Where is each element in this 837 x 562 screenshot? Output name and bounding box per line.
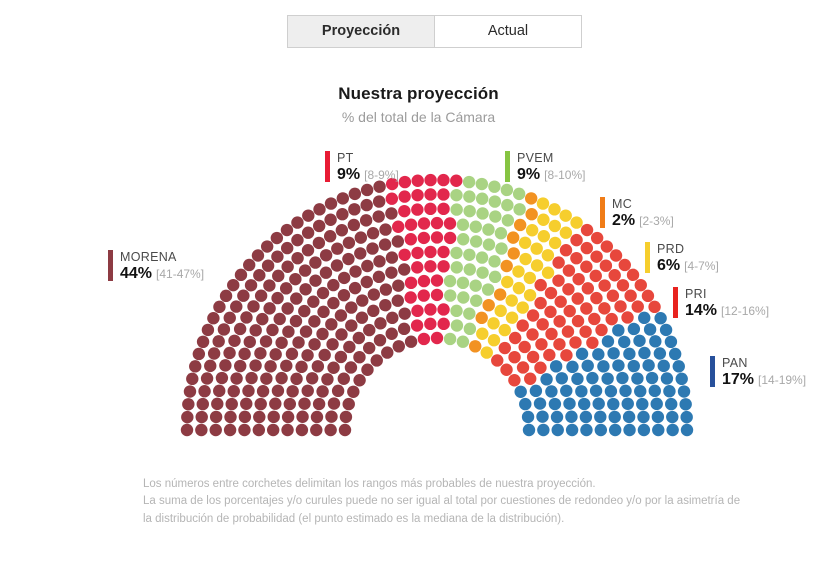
seat-dot: [450, 203, 462, 215]
chart-subtitle: % del total de la Cámara: [0, 109, 837, 125]
seat-dot: [418, 217, 430, 229]
seat-dot: [673, 360, 685, 372]
party-pct-mc: 2%: [612, 212, 635, 229]
seat-dot: [536, 410, 548, 422]
seat-dot: [476, 266, 488, 278]
seat-dot: [590, 270, 602, 282]
seat-dot: [481, 346, 493, 358]
seat-dot: [313, 220, 325, 232]
seat-dot: [431, 217, 443, 229]
seat-dot: [381, 346, 393, 358]
seat-dot: [238, 348, 250, 360]
seat-dot: [321, 373, 333, 385]
seat-dot: [525, 208, 537, 220]
seat-dot: [399, 307, 411, 319]
seat-dot: [623, 348, 635, 360]
seat-dot: [591, 232, 603, 244]
seat-dot: [571, 373, 583, 385]
seat-dot: [548, 203, 560, 215]
seat-dot: [531, 259, 543, 271]
seat-dot: [331, 259, 343, 271]
party-color-swatch-prd: [645, 242, 650, 273]
seat-dot: [475, 312, 487, 324]
party-callout-morena[interactable]: MORENA 44%[41-47%]: [108, 250, 204, 283]
seat-dot: [526, 328, 538, 340]
seat-dot: [469, 340, 481, 352]
seat-dot: [542, 249, 554, 261]
seat-dot: [489, 210, 501, 222]
seat-dot: [331, 242, 343, 254]
seat-dot: [545, 287, 557, 299]
seat-dot: [628, 323, 640, 335]
seat-dot: [316, 385, 328, 397]
seat-dot: [353, 374, 365, 386]
seat-dot: [514, 219, 526, 231]
seat-dot: [373, 271, 385, 283]
seat-dot: [320, 267, 332, 279]
seat-dot: [327, 279, 339, 291]
seat-dot: [256, 313, 268, 325]
seat-dot: [318, 349, 330, 361]
seat-dot: [517, 301, 529, 313]
seat-dot: [463, 176, 475, 188]
party-callout-pt[interactable]: PT 9%[8-9%]: [325, 151, 399, 184]
seat-dot: [313, 203, 325, 215]
seat-dot: [317, 306, 329, 318]
seat-dot: [560, 385, 572, 397]
seat-dot: [380, 283, 392, 295]
seat-dot: [592, 348, 604, 360]
seat-dot: [324, 424, 336, 436]
seat-dot: [263, 279, 275, 291]
seat-dot: [519, 398, 531, 410]
party-color-swatch-pvem: [505, 151, 510, 182]
seat-dot: [624, 290, 636, 302]
seat-dot: [320, 249, 332, 261]
seat-dot: [379, 238, 391, 250]
seat-dot: [360, 199, 372, 211]
seat-dot: [681, 424, 693, 436]
seat-dot: [202, 324, 214, 336]
seat-dot: [307, 296, 319, 308]
seat-dot: [552, 424, 564, 436]
seat-dot: [255, 290, 267, 302]
seat-dot: [450, 247, 462, 259]
seat-dot: [612, 324, 624, 336]
party-name-morena: MORENA: [120, 250, 204, 264]
chart-title: Nuestra proyección: [0, 84, 837, 104]
party-range-pvem: [8-10%]: [544, 168, 585, 182]
seat-dot: [508, 247, 520, 259]
seat-dot: [252, 249, 264, 261]
seat-dot: [243, 259, 255, 271]
seat-dot: [348, 219, 360, 231]
seat-dot: [469, 279, 481, 291]
seat-dot: [499, 324, 511, 336]
seat-dot: [542, 267, 554, 279]
seat-dot: [269, 348, 281, 360]
party-callout-mc[interactable]: MC 2%[2-3%]: [600, 197, 674, 230]
seat-dot: [560, 209, 572, 221]
seat-dot: [494, 288, 506, 300]
seat-dot: [349, 282, 361, 294]
seat-dot: [635, 279, 647, 291]
seat-dot: [488, 180, 500, 192]
seat-dot: [608, 269, 620, 281]
seat-dot: [349, 265, 361, 277]
seat-dot: [550, 360, 562, 372]
seat-dot: [431, 332, 443, 344]
seat-dot: [660, 324, 672, 336]
party-range-mc: [2-3%]: [639, 214, 674, 228]
party-color-swatch-pan: [710, 356, 715, 387]
seat-dot: [224, 424, 236, 436]
seat-dot: [552, 256, 564, 268]
seat-dot: [431, 289, 443, 301]
seat-dot: [405, 233, 417, 245]
seat-dot: [556, 372, 568, 384]
seat-dot: [500, 260, 512, 272]
seat-dot: [226, 398, 238, 410]
seat-dot: [332, 385, 344, 397]
seat-dot: [345, 319, 357, 331]
party-pct-pvem: 9%: [517, 166, 540, 183]
seat-dot: [313, 237, 325, 249]
seat-dot: [386, 328, 398, 340]
seat-dot: [213, 301, 225, 313]
seat-dot: [411, 189, 423, 201]
party-pct-pt: 9%: [337, 166, 360, 183]
seat-dot: [607, 290, 619, 302]
seat-dot: [247, 300, 259, 312]
seat-dot: [253, 269, 265, 281]
seat-dot: [309, 256, 321, 268]
seat-dot: [590, 385, 602, 397]
seat-dot: [627, 269, 639, 281]
seat-dot: [501, 276, 513, 288]
seat-dot: [534, 297, 546, 309]
seat-dot: [374, 334, 386, 346]
seat-dot: [325, 410, 337, 422]
seat-dot: [345, 361, 357, 373]
seat-dot: [605, 385, 617, 397]
seat-dot: [680, 411, 692, 423]
seat-dot: [644, 323, 656, 335]
seat-dot: [271, 232, 283, 244]
seat-dot: [565, 411, 577, 423]
seat-dot: [326, 338, 338, 350]
seat-dot: [371, 354, 383, 366]
seat-dot: [450, 189, 462, 201]
seat-dot: [392, 235, 404, 247]
seat-dot: [228, 335, 240, 347]
seat-dot: [282, 325, 294, 337]
seat-dot: [411, 247, 423, 259]
seat-dot: [290, 292, 302, 304]
seat-dot: [418, 275, 430, 287]
seat-dot: [609, 411, 621, 423]
seat-dot: [518, 341, 530, 353]
seat-dot: [338, 272, 350, 284]
seat-dot: [513, 203, 525, 215]
seat-dot: [634, 385, 646, 397]
seat-dot: [553, 338, 565, 350]
seat-dot: [669, 348, 681, 360]
seat-dot: [345, 301, 357, 313]
party-callout-prd[interactable]: PRD 6%[4-7%]: [645, 242, 719, 275]
seat-dot: [628, 360, 640, 372]
seat-dot: [325, 197, 337, 209]
seat-dot: [218, 323, 230, 335]
seat-dot: [621, 311, 633, 323]
seat-dot: [296, 411, 308, 423]
seat-dot: [230, 372, 242, 384]
party-callout-pan[interactable]: PAN 17%[14-19%]: [710, 356, 806, 389]
seat-dot: [280, 282, 292, 294]
seat-dot: [343, 398, 355, 410]
seat-dot: [457, 336, 469, 348]
seat-dot: [563, 397, 575, 409]
seat-dot: [538, 230, 550, 242]
seat-dot: [494, 305, 506, 317]
seat-dot: [182, 398, 194, 410]
seat-dot: [612, 359, 624, 371]
seat-dot: [666, 424, 678, 436]
seat-dot: [476, 193, 488, 205]
footnote-line-1: Los números entre corchetes delimitan lo…: [143, 476, 783, 493]
seat-dot: [361, 364, 373, 376]
seat-dot: [353, 332, 365, 344]
seat-dot: [211, 398, 223, 410]
seat-dot: [405, 336, 417, 348]
seat-dot: [253, 424, 265, 436]
seat-dot: [522, 411, 534, 423]
seat-dot: [661, 372, 673, 384]
seat-dot: [398, 249, 410, 261]
seat-dot: [361, 184, 373, 196]
seat-dot: [405, 219, 417, 231]
seat-dot: [564, 305, 576, 317]
seat-dot: [457, 277, 469, 289]
seat-dot: [572, 315, 584, 327]
seat-dot: [313, 398, 325, 410]
seat-dot: [457, 291, 469, 303]
seat-dot: [483, 238, 495, 250]
seat-dot: [302, 385, 314, 397]
seat-dot: [638, 312, 650, 324]
seat-dot: [411, 319, 423, 331]
seat-dot: [195, 424, 207, 436]
seat-dot: [590, 250, 602, 262]
party-callout-pvem[interactable]: PVEM 9%[8-10%]: [505, 151, 585, 184]
seat-dot: [431, 231, 443, 243]
seat-dot: [437, 188, 449, 200]
seat-dot: [274, 313, 286, 325]
seat-dot: [418, 333, 430, 345]
seat-dot: [349, 188, 361, 200]
seat-dot: [581, 242, 593, 254]
view-tabs[interactable]: Proyección Actual: [287, 15, 582, 48]
seat-dot: [290, 315, 302, 327]
seat-dot: [393, 340, 405, 352]
seat-dot: [508, 374, 520, 386]
seat-dot: [623, 424, 635, 436]
seat-dot: [444, 289, 456, 301]
seat-dot: [595, 324, 607, 336]
seat-dot: [665, 398, 677, 410]
seat-dot: [535, 338, 547, 350]
seat-dot: [545, 328, 557, 340]
seat-dot: [271, 250, 283, 262]
seat-dot: [368, 288, 380, 300]
seat-dot: [576, 348, 588, 360]
seat-dot: [470, 221, 482, 233]
seat-dot: [234, 360, 246, 372]
seat-dot: [281, 424, 293, 436]
seat-dot: [374, 317, 386, 329]
seat-dot: [184, 385, 196, 397]
seat-dot: [566, 424, 578, 436]
seat-dot: [534, 279, 546, 291]
seat-dot: [666, 411, 678, 423]
seat-dot: [181, 424, 193, 436]
seat-dot: [372, 210, 384, 222]
seat-dot: [353, 351, 365, 363]
seat-dot: [623, 411, 635, 423]
seat-dot: [646, 372, 658, 384]
seat-dot: [398, 190, 410, 202]
seat-dot: [301, 349, 313, 361]
party-callout-pri[interactable]: PRI 14%[12-16%]: [673, 287, 769, 320]
seat-dot: [398, 205, 410, 217]
seat-dot: [537, 197, 549, 209]
seat-dot: [633, 335, 645, 347]
seat-dot: [563, 264, 575, 276]
seat-dot: [580, 302, 592, 314]
seat-dot: [272, 270, 284, 282]
seat-dot: [495, 242, 507, 254]
seat-dot: [348, 203, 360, 215]
footnote-line-2: La suma de los porcentajes y/o curules p…: [143, 493, 783, 510]
seat-dot: [499, 342, 511, 354]
seat-dot: [618, 336, 630, 348]
seat-dot: [451, 261, 463, 273]
seat-dot: [572, 292, 584, 304]
seat-dot: [537, 424, 549, 436]
seat-dot: [327, 362, 339, 374]
seat-dot: [207, 312, 219, 324]
seat-dot: [544, 306, 556, 318]
seat-dot: [300, 325, 312, 337]
seat-dot: [619, 259, 631, 271]
seat-dot: [464, 323, 476, 335]
seat-dot: [240, 398, 252, 410]
seat-dot: [649, 385, 661, 397]
seat-dot: [601, 372, 613, 384]
seat-dot: [616, 372, 628, 384]
seat-dot: [189, 360, 201, 372]
seat-dot: [506, 294, 518, 306]
seat-dot: [227, 279, 239, 291]
seat-dot: [488, 255, 500, 267]
seat-dot: [264, 360, 276, 372]
seat-dot: [642, 290, 654, 302]
party-name-mc: MC: [612, 197, 674, 211]
seat-dot: [373, 195, 385, 207]
seat-dot: [648, 301, 660, 313]
seat-dot: [575, 385, 587, 397]
seat-dot: [253, 411, 265, 423]
seat-dot: [324, 230, 336, 242]
seat-dot: [255, 398, 267, 410]
seat-dot: [457, 233, 469, 245]
seat-dot: [392, 295, 404, 307]
seat-dot: [424, 318, 436, 330]
seat-dot: [663, 385, 675, 397]
seat-dot: [281, 224, 293, 236]
seat-dot: [354, 247, 366, 259]
seat-dot: [549, 237, 561, 249]
seat-dot: [210, 424, 222, 436]
tab-proyeccion[interactable]: Proyección: [288, 16, 434, 47]
seat-dot: [312, 360, 324, 372]
seat-dot: [220, 290, 232, 302]
party-name-pan: PAN: [722, 356, 806, 370]
seat-dot: [501, 184, 513, 196]
party-pct-pan: 17%: [722, 371, 754, 388]
seat-dot: [281, 302, 293, 314]
seat-dot: [509, 332, 521, 344]
seat-dot: [463, 307, 475, 319]
seat-dot: [679, 398, 691, 410]
seat-dot: [424, 188, 436, 200]
seat-dot: [463, 205, 475, 217]
footnote-line-3: la distribución de probabilidad (el punt…: [143, 511, 783, 528]
seat-dot: [363, 342, 375, 354]
seat-dot: [552, 274, 564, 286]
seat-dot: [549, 220, 561, 232]
seat-dot: [482, 283, 494, 295]
seat-dot: [360, 214, 372, 226]
tab-actual[interactable]: Actual: [434, 16, 581, 47]
seat-dot: [562, 325, 574, 337]
seat-dot: [340, 411, 352, 423]
seat-dot: [638, 347, 650, 359]
seat-dot: [487, 317, 499, 329]
seat-dot: [582, 282, 594, 294]
seat-dot: [356, 311, 368, 323]
seat-dot: [254, 347, 266, 359]
seat-dot: [296, 424, 308, 436]
seat-dot: [597, 360, 609, 372]
seat-dot: [526, 224, 538, 236]
seat-dot: [619, 385, 631, 397]
seat-dot: [239, 411, 251, 423]
party-pct-pri: 14%: [685, 302, 717, 319]
seat-dot: [356, 294, 368, 306]
seat-dot: [500, 364, 512, 376]
seat-dot: [213, 385, 225, 397]
seat-dot: [495, 227, 507, 239]
seat-dot: [335, 309, 347, 321]
seat-dot: [607, 347, 619, 359]
seat-dot: [598, 302, 610, 314]
seat-dot: [272, 385, 284, 397]
seat-dot: [201, 372, 213, 384]
seat-dot: [290, 373, 302, 385]
seat-dot: [527, 309, 539, 321]
seat-dot: [405, 277, 417, 289]
